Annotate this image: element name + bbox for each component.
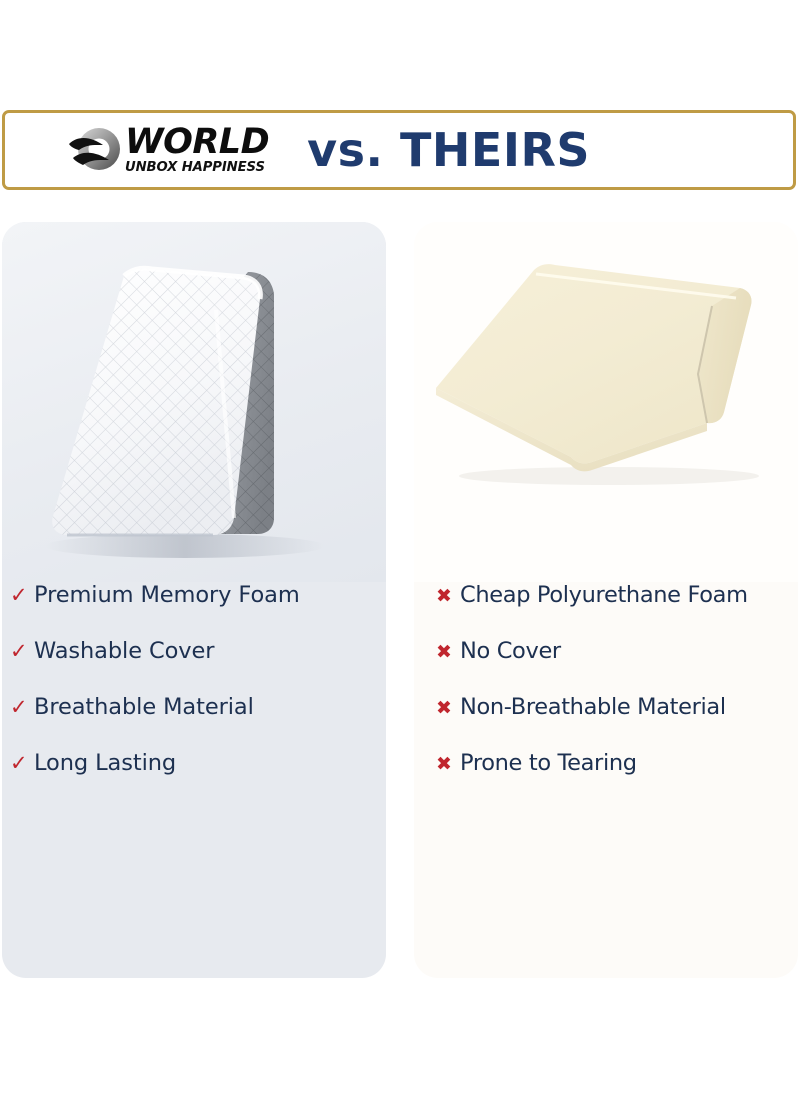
list-item: ✓ Breathable Material <box>10 696 386 752</box>
list-item: ✓ Premium Memory Foam <box>10 584 386 640</box>
world-swoosh-logo-icon <box>67 120 127 180</box>
check-icon: ✓ <box>10 585 34 606</box>
check-icon: ✓ <box>10 641 34 662</box>
page-title: vs. THEIRS <box>307 127 590 173</box>
check-icon: ✓ <box>10 753 34 774</box>
cross-icon: ✖ <box>436 699 460 718</box>
ours-feature-list: ✓ Premium Memory Foam ✓ Washable Cover ✓… <box>2 584 386 808</box>
brand-name: WORLD <box>125 126 269 159</box>
feature-label: Long Lasting <box>34 752 176 775</box>
theirs-panel: ✖ Cheap Polyurethane Foam ✖ No Cover ✖ N… <box>414 222 798 978</box>
plain-foam-wedge-illustration <box>424 262 784 492</box>
theirs-feature-list: ✖ Cheap Polyurethane Foam ✖ No Cover ✖ N… <box>414 584 798 808</box>
memory-foam-wedge-pillow-illustration <box>20 250 350 558</box>
check-icon: ✓ <box>10 697 34 718</box>
panel-divider <box>386 222 414 978</box>
list-item: ✖ Cheap Polyurethane Foam <box>436 584 798 640</box>
feature-label: Cheap Polyurethane Foam <box>460 584 748 607</box>
header-banner: WORLD UNBOX HAPPINESS vs. THEIRS <box>2 110 796 190</box>
brand-tagline: UNBOX HAPPINESS <box>125 161 265 174</box>
feature-label: Breathable Material <box>34 696 254 719</box>
cross-icon: ✖ <box>436 643 460 662</box>
ours-product-image <box>2 222 386 582</box>
cross-icon: ✖ <box>436 755 460 774</box>
comparison-section: ✓ Premium Memory Foam ✓ Washable Cover ✓… <box>0 222 800 978</box>
feature-label: Premium Memory Foam <box>34 584 300 607</box>
feature-label: Prone to Tearing <box>460 752 637 775</box>
cross-icon: ✖ <box>436 587 460 606</box>
brand-wordmark: WORLD UNBOX HAPPINESS <box>125 126 269 174</box>
brand-logo: WORLD UNBOX HAPPINESS <box>67 120 269 180</box>
header-content: WORLD UNBOX HAPPINESS vs. THEIRS <box>5 120 793 180</box>
list-item: ✖ Non-Breathable Material <box>436 696 798 752</box>
list-item: ✓ Long Lasting <box>10 752 386 808</box>
feature-label: Washable Cover <box>34 640 214 663</box>
feature-label: No Cover <box>460 640 561 663</box>
theirs-product-image <box>414 222 798 582</box>
feature-label: Non-Breathable Material <box>460 696 726 719</box>
list-item: ✓ Washable Cover <box>10 640 386 696</box>
list-item: ✖ Prone to Tearing <box>436 752 798 808</box>
ours-panel: ✓ Premium Memory Foam ✓ Washable Cover ✓… <box>2 222 386 978</box>
list-item: ✖ No Cover <box>436 640 798 696</box>
